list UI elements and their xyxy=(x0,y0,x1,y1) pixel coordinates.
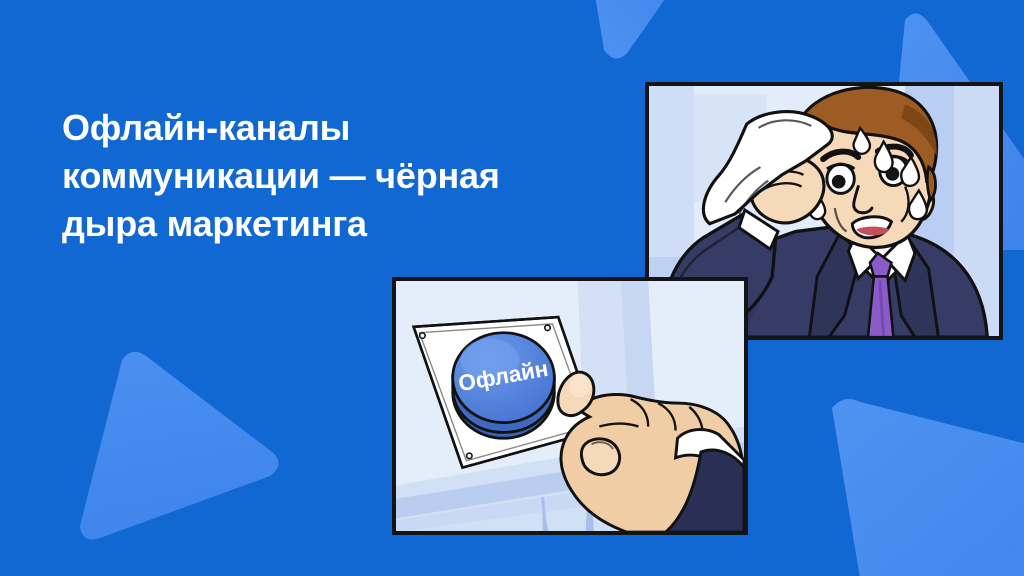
slide-canvas: Офлайн-каналы коммуникации — чёрная дыра… xyxy=(0,0,1024,576)
page-title: Офлайн-каналы коммуникации — чёрная дыра… xyxy=(62,104,602,248)
image-offline-button: Офлайн xyxy=(392,277,748,535)
shape-bottom-right-triangle xyxy=(832,399,1024,576)
offline-button-illustration: Офлайн xyxy=(396,281,744,531)
shape-top-center-triangle xyxy=(586,0,706,59)
shape-bottom-left-triangle xyxy=(80,352,279,540)
